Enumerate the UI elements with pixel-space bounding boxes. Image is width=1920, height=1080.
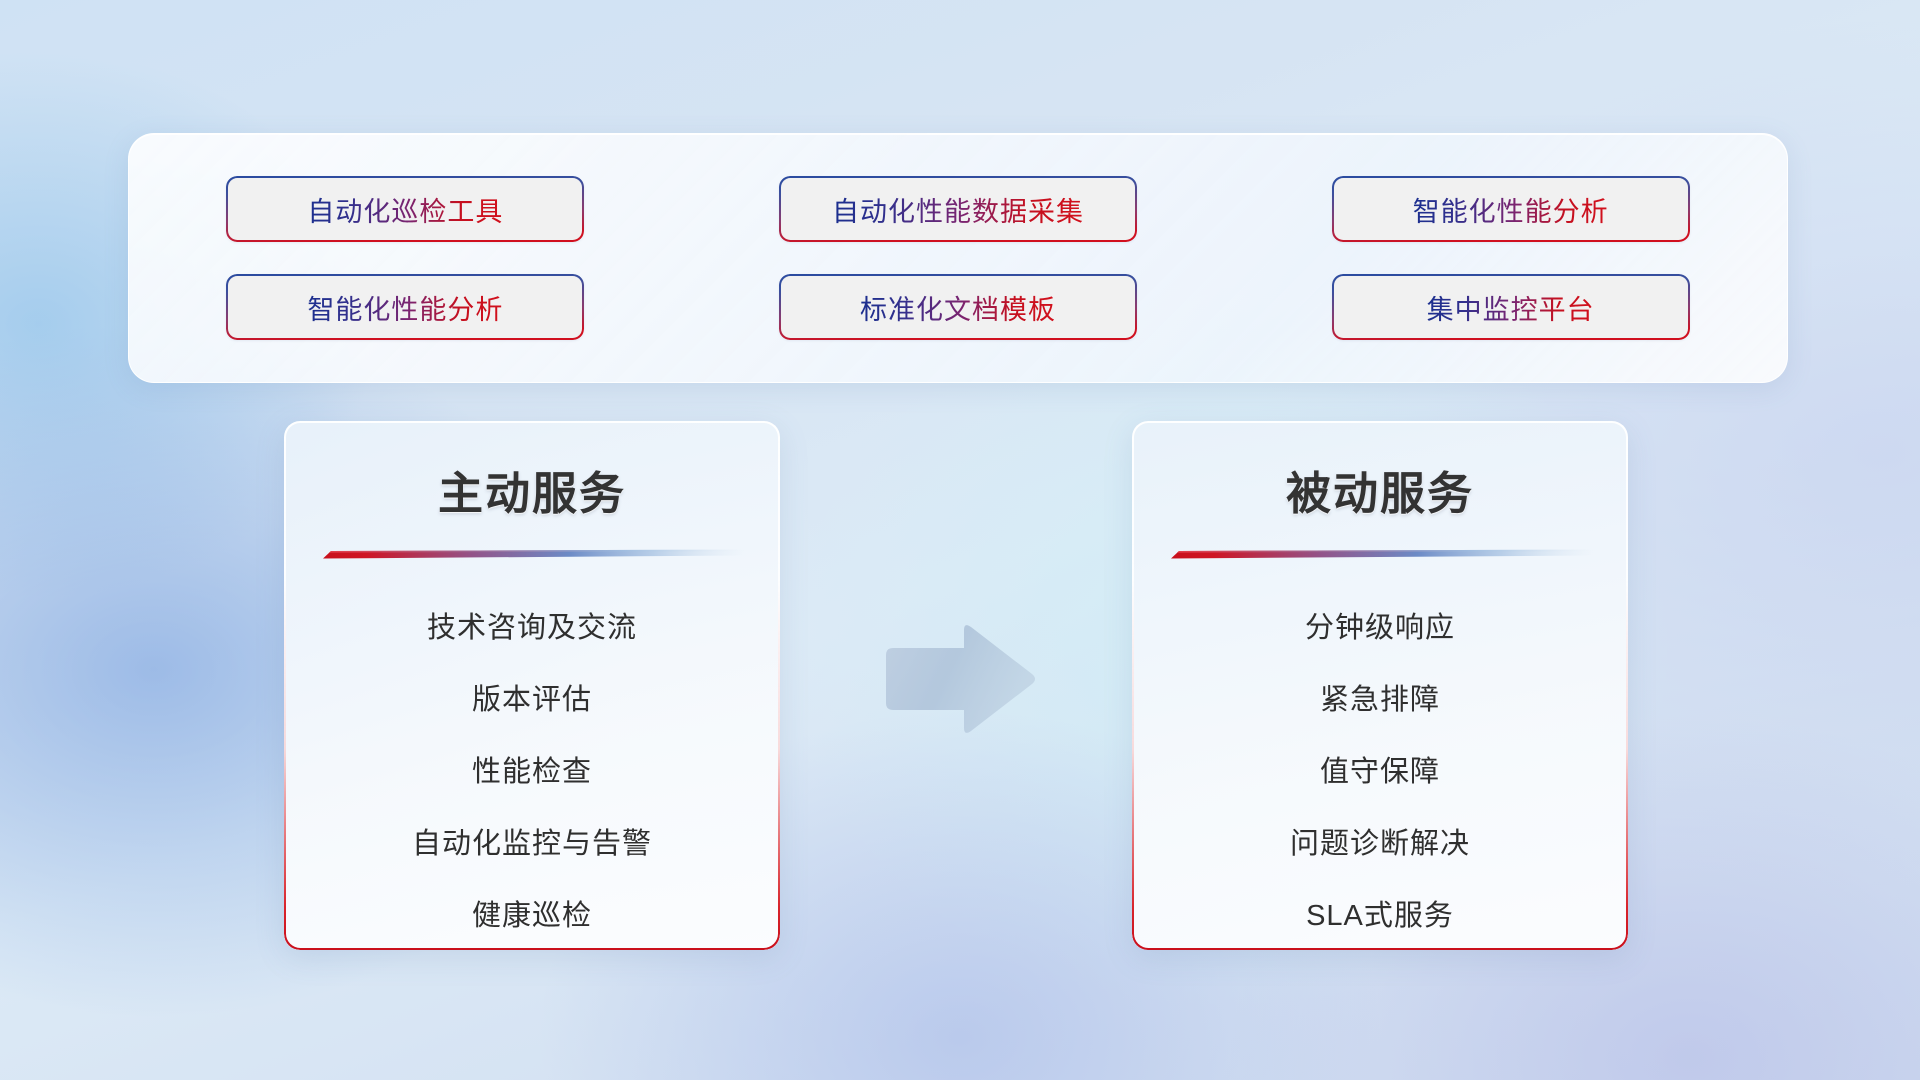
service-card-reactive[interactable]: 被动服务 <box>1132 421 1628 950</box>
divider-icon <box>317 549 747 560</box>
service-list-item[interactable]: 紧急排障 <box>1320 664 1440 736</box>
service-list-item[interactable]: 自动化监控与告警 <box>412 808 652 880</box>
capability-pill[interactable]: 自动化巡检工具 <box>226 176 584 242</box>
service-list-item[interactable]: 性能检查 <box>472 736 592 808</box>
service-list-item[interactable]: 分钟级响应 <box>1305 592 1455 664</box>
service-list-item[interactable]: 问题诊断解决 <box>1290 808 1470 880</box>
capability-pill[interactable]: 标准化文档模板 <box>779 274 1137 340</box>
capability-pill-label: 自动化巡检工具 <box>307 190 503 229</box>
card-divider <box>1165 549 1595 560</box>
pill-grid: 自动化巡检工具 自动化性能数据采集 智能化性能分析 智能化性能分析 标准化文档模… <box>129 176 1787 340</box>
service-list: 分钟级响应 紧急排障 值守保障 问题诊断解决 SLA式服务 <box>1132 592 1628 950</box>
capability-pill[interactable]: 智能化性能分析 <box>1332 176 1690 242</box>
capability-pill-label: 智能化性能分析 <box>1413 190 1609 229</box>
capability-pill-label: 自动化性能数据采集 <box>832 190 1084 229</box>
card-divider <box>317 549 747 560</box>
capability-pill-label: 智能化性能分析 <box>307 288 503 327</box>
service-list-item[interactable]: 版本评估 <box>472 664 592 736</box>
service-list-item[interactable]: 技术咨询及交流 <box>427 592 637 664</box>
service-list-item[interactable]: 值守保障 <box>1320 736 1440 808</box>
capability-pill-label: 标准化文档模板 <box>860 288 1056 327</box>
service-list: 技术咨询及交流 版本评估 性能检查 自动化监控与告警 健康巡检 <box>284 592 780 950</box>
capability-pill-label: 集中监控平台 <box>1427 288 1595 327</box>
divider-icon <box>1165 549 1595 560</box>
capability-pill[interactable]: 集中监控平台 <box>1332 274 1690 340</box>
service-list-item[interactable]: SLA式服务 <box>1306 880 1454 950</box>
service-card-proactive[interactable]: 主动服务 <box>284 421 780 950</box>
capability-pill-panel: 自动化巡检工具 自动化性能数据采集 智能化性能分析 智能化性能分析 标准化文档模… <box>128 133 1788 383</box>
capability-pill[interactable]: 自动化性能数据采集 <box>779 176 1137 242</box>
service-list-item[interactable]: 健康巡检 <box>472 880 592 950</box>
capability-pill[interactable]: 智能化性能分析 <box>226 274 584 340</box>
arrow-right-icon <box>880 622 1040 737</box>
slide-canvas: 自动化巡检工具 自动化性能数据采集 智能化性能分析 智能化性能分析 标准化文档模… <box>0 0 1920 1080</box>
card-title: 被动服务 <box>1132 457 1628 522</box>
card-title: 主动服务 <box>284 457 780 522</box>
